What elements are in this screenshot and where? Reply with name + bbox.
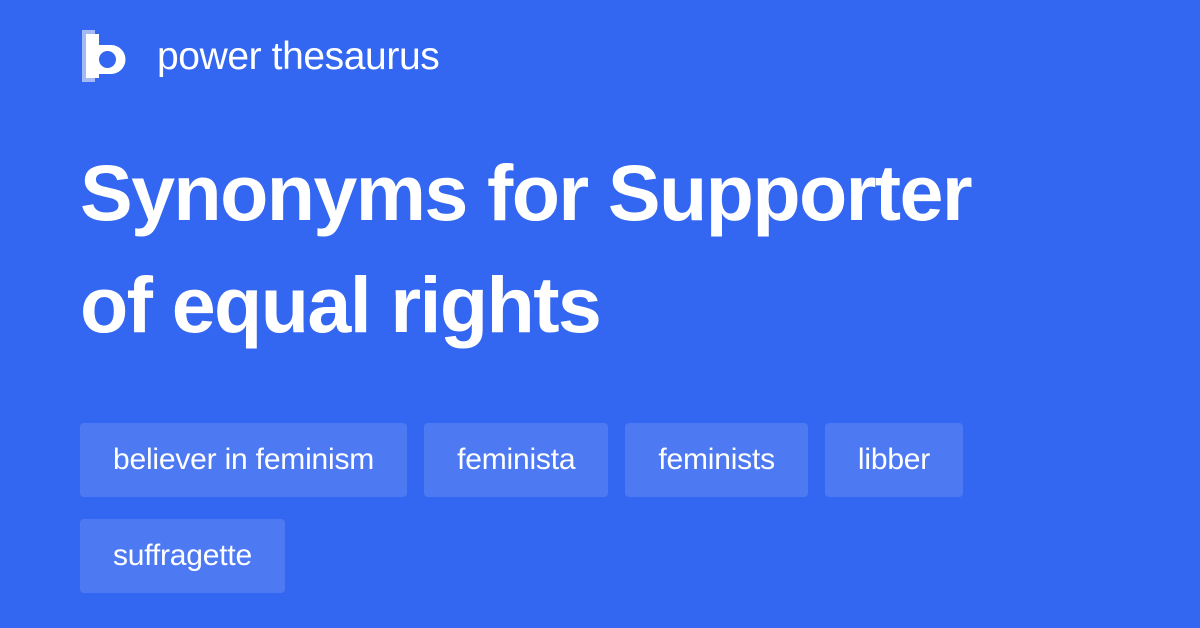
synonym-tag-list: believer in feminism feminista feminists…	[80, 423, 1120, 593]
page-title-line-1: Synonyms for Supporter	[80, 148, 971, 237]
brand-name: power thesaurus	[157, 37, 439, 76]
page-title-line-2: of equal rights	[80, 260, 600, 349]
synonym-tag[interactable]: feminista	[424, 423, 608, 497]
page-title: Synonyms for Supporter of equal rights	[80, 137, 1090, 361]
brand-header[interactable]: power thesaurus	[80, 29, 439, 83]
synonym-tag[interactable]: suffragette	[80, 519, 285, 593]
synonym-tag[interactable]: libber	[825, 423, 963, 497]
share-card: power thesaurus Synonyms for Supporter o…	[0, 0, 1200, 628]
power-thesaurus-logo-icon	[80, 30, 132, 82]
synonym-tag[interactable]: believer in feminism	[80, 423, 407, 497]
synonym-tag[interactable]: feminists	[625, 423, 808, 497]
